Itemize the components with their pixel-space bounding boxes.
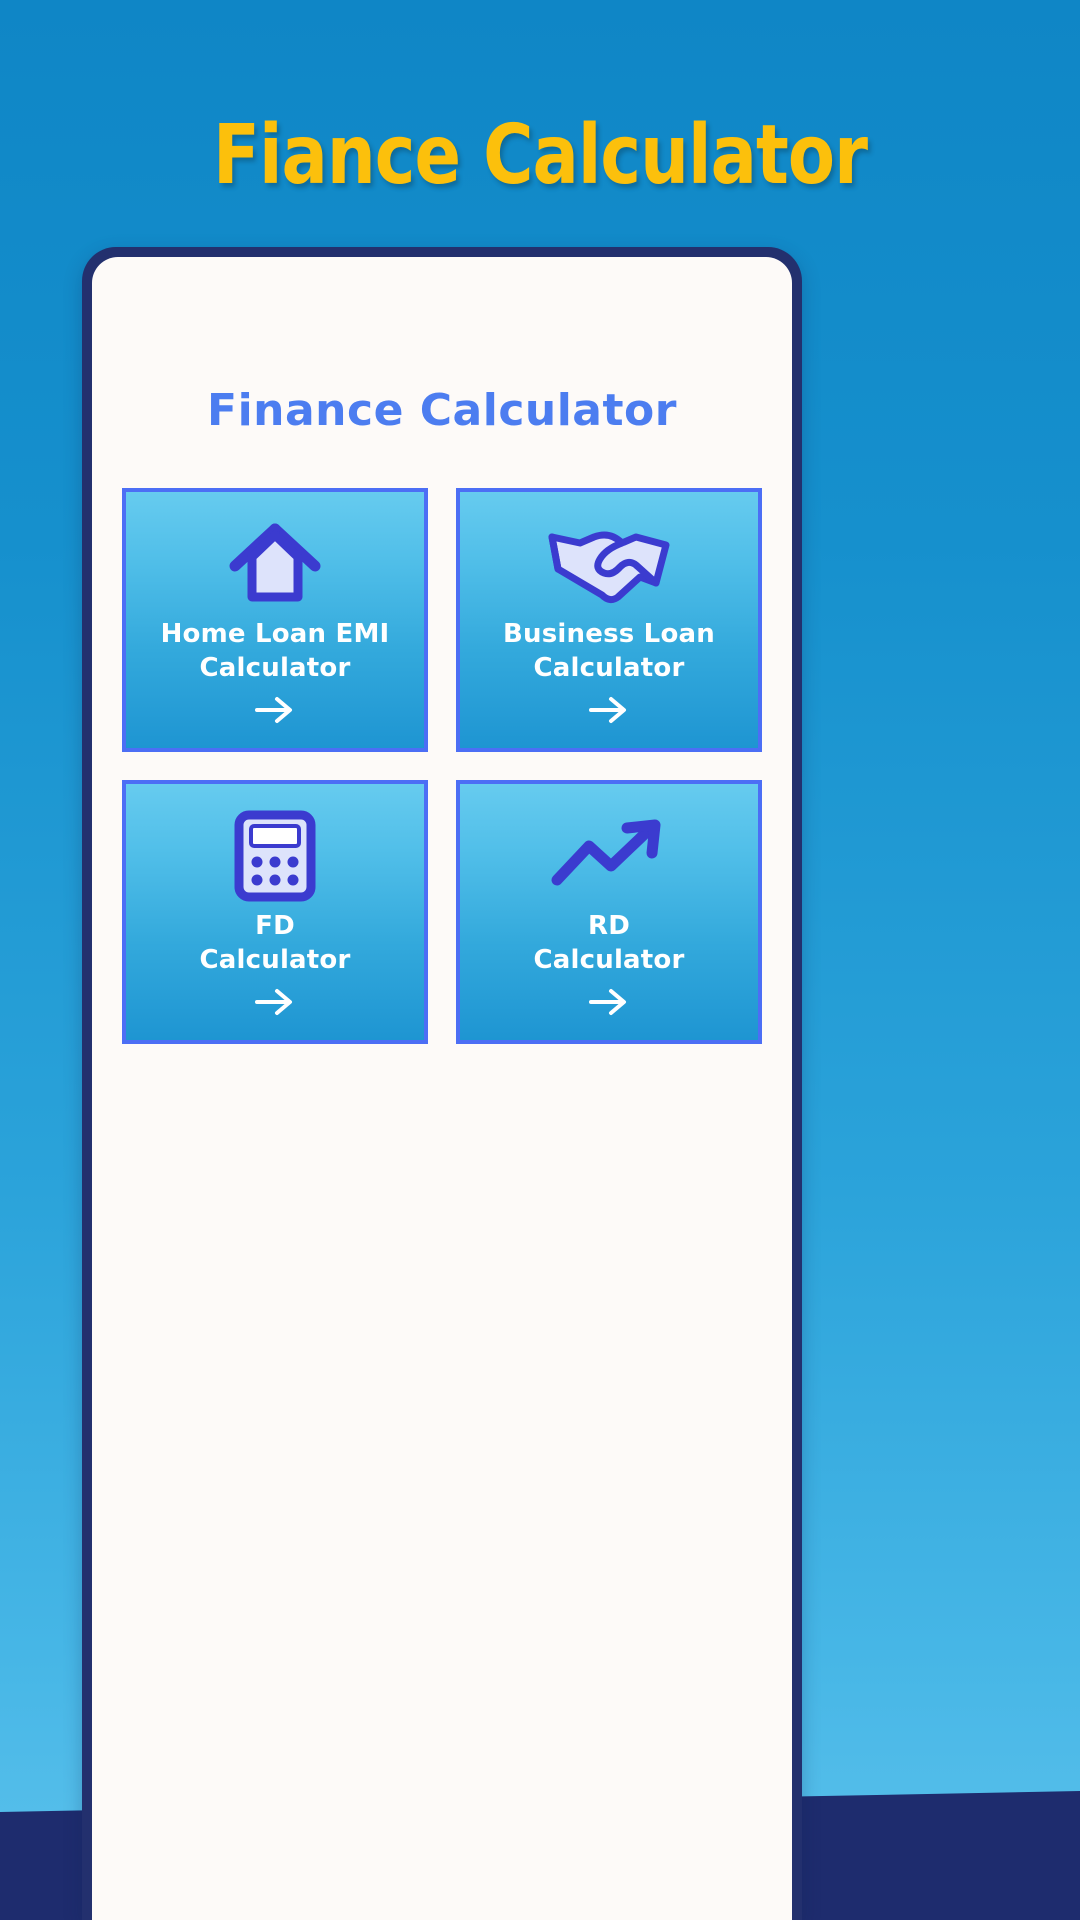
arrow-right-icon — [587, 696, 631, 724]
tile-fd[interactable]: FD Calculator — [122, 780, 428, 1044]
arrow-right-icon — [253, 988, 297, 1016]
phone-screen: Finance Calculator Home Loan EMI Calcula… — [92, 257, 792, 1920]
phone-frame: Finance Calculator Home Loan EMI Calcula… — [82, 247, 802, 1920]
calculator-icon — [233, 810, 317, 902]
arrow-right-icon — [253, 696, 297, 724]
tile-label: RD Calculator — [533, 910, 684, 978]
tile-label: Home Loan EMI Calculator — [161, 618, 390, 686]
hero-title: Fiance Calculator — [38, 108, 1042, 203]
tile-label: Business Loan Calculator — [503, 618, 715, 686]
tile-label: FD Calculator — [199, 910, 350, 978]
calculator-grid: Home Loan EMI Calculator Business Loan — [122, 488, 762, 1044]
handshake-icon — [544, 518, 674, 610]
page-title: Finance Calculator — [92, 385, 792, 436]
arrow-right-icon — [587, 988, 631, 1016]
tile-home-loan-emi[interactable]: Home Loan EMI Calculator — [122, 488, 428, 752]
tile-rd[interactable]: RD Calculator — [456, 780, 762, 1044]
house-icon — [227, 518, 323, 610]
tile-business-loan[interactable]: Business Loan Calculator — [456, 488, 762, 752]
trending-up-icon — [549, 810, 669, 902]
